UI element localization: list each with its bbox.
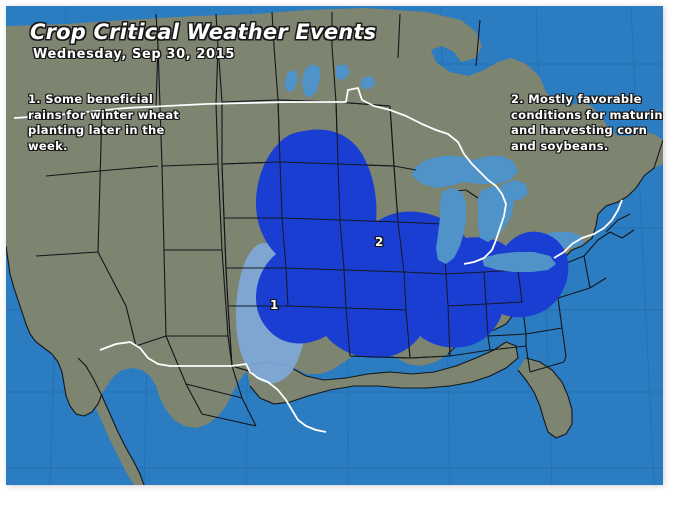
map-canvas[interactable]: Crop Critical Weather Events Wednesday, … [6, 6, 663, 485]
weather-map-app: Crop Critical Weather Events Wednesday, … [0, 0, 692, 512]
map-graphic [6, 6, 663, 485]
